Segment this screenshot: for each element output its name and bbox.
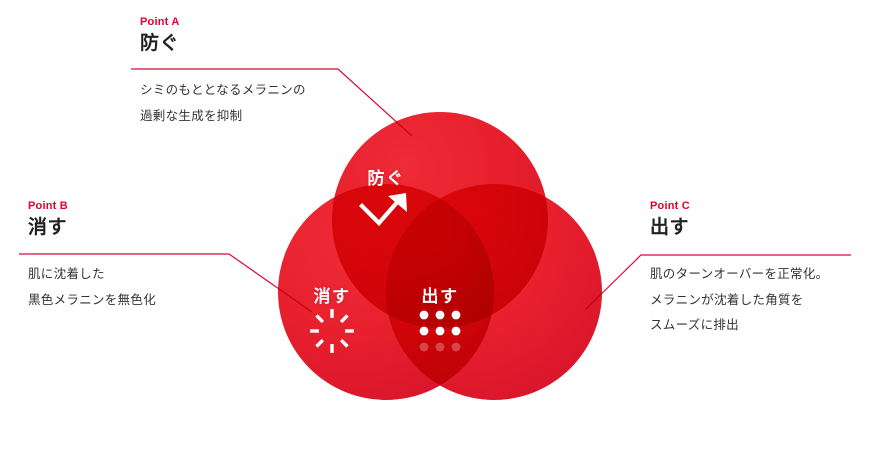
point-c-body: 肌のターンオーバーを正常化。 メラニンが沈着した角質を スムーズに排出 (650, 262, 870, 339)
circle-label-expel: 出す (422, 282, 459, 307)
shine-burst-icon (309, 308, 355, 359)
point-a-label: Point A (140, 16, 380, 29)
point-c-title: 出す (650, 216, 870, 240)
point-a-title: 防ぐ (140, 32, 380, 56)
point-b-body: 肌に沈着した 黒色メラニンを無色化 (28, 262, 278, 313)
point-b-title: 消す (28, 216, 278, 240)
point-c-label: Point C (650, 200, 870, 213)
venn-diagram: 防ぐ 消す 出す (278, 112, 602, 400)
dot-grid-icon (417, 308, 463, 359)
point-b-label: Point B (28, 200, 278, 213)
check-arrow-up-right-icon (359, 190, 413, 235)
callout-point-b: Point B 消す 肌に沈着した 黒色メラニンを無色化 (28, 200, 278, 313)
circle-expel (386, 184, 602, 400)
infographic-canvas: Point A 防ぐ シミのもととなるメラニンの 過剰な生成を抑制 Point … (0, 0, 870, 458)
circle-label-prevent: 防ぐ (368, 164, 405, 189)
callout-point-c: Point C 出す 肌のターンオーバーを正常化。 メラニンが沈着した角質を ス… (650, 200, 870, 339)
circle-label-erase: 消す (314, 282, 351, 307)
